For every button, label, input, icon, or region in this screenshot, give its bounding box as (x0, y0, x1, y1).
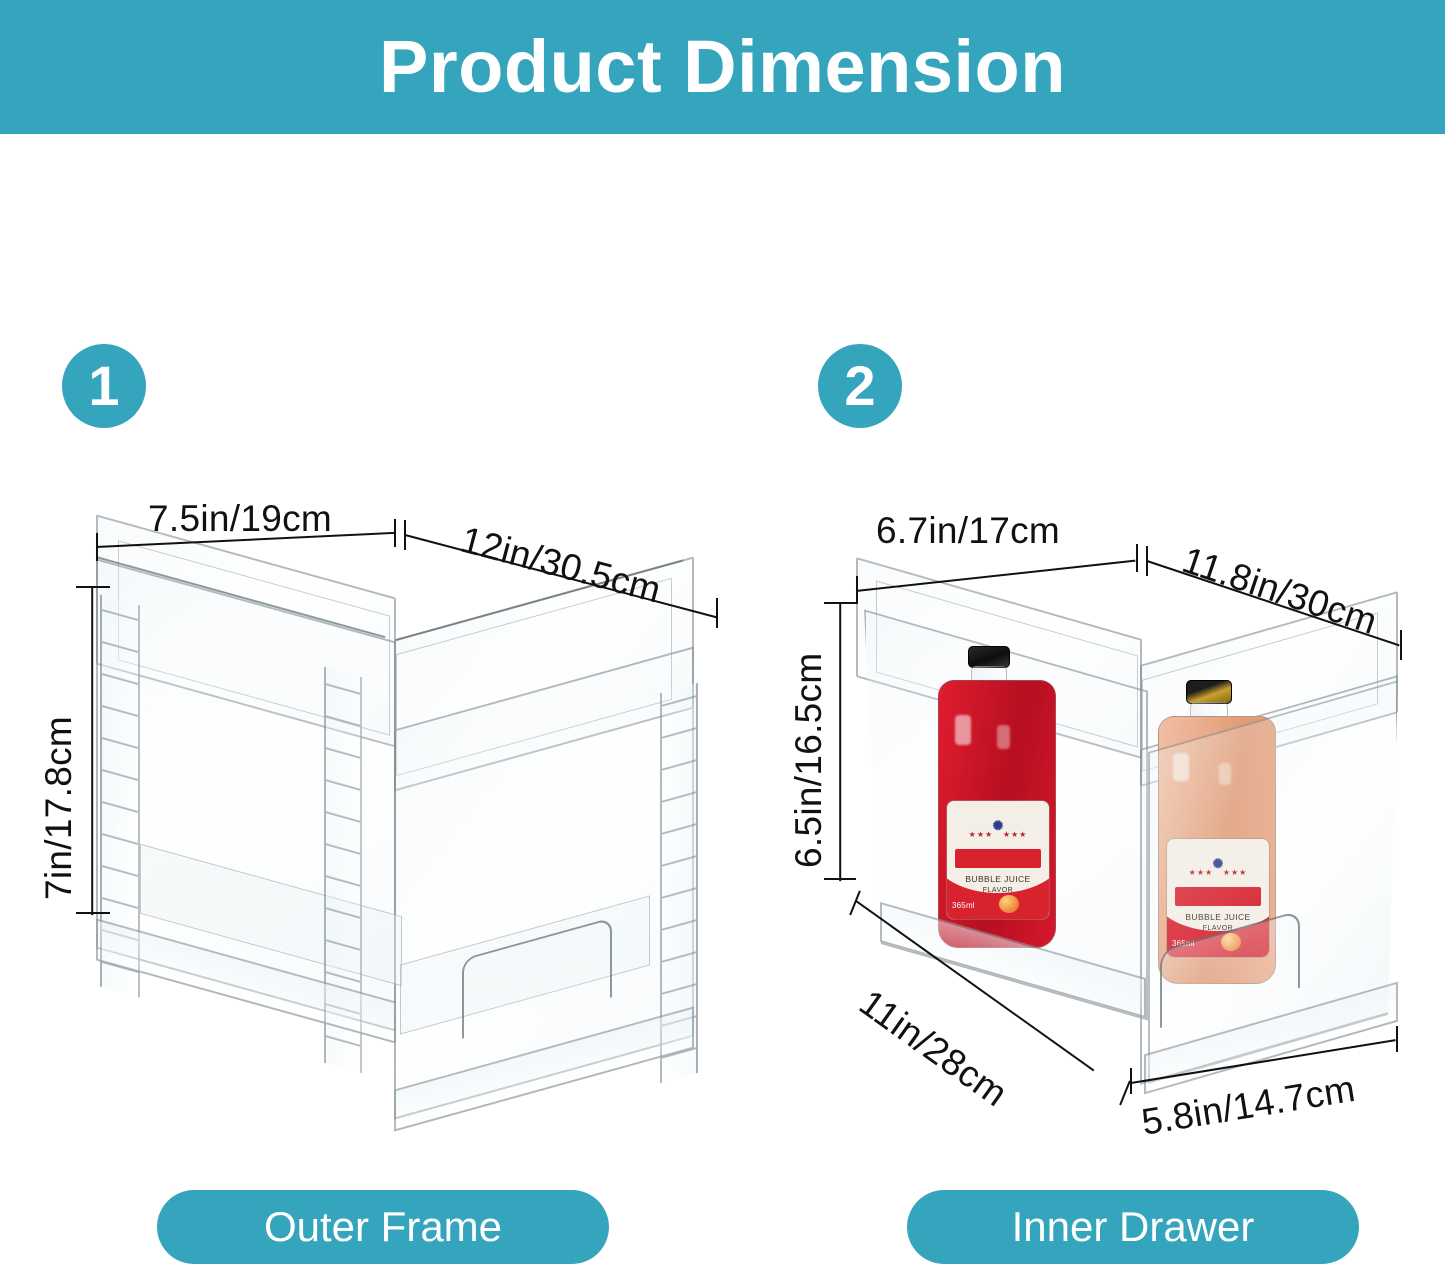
label-ribbon (955, 849, 1041, 868)
caption-outer-frame: Outer Frame (157, 1190, 609, 1264)
bottle-cap-black (968, 646, 1010, 668)
dim-label-width-top-2: 6.7in/17cm (876, 512, 1060, 549)
bottle-highlight (955, 715, 971, 745)
label-product-name: BUBBLE JUICE (947, 875, 1049, 884)
header-banner: Product Dimension (0, 0, 1445, 134)
dim-tick-w2-right (1136, 544, 1138, 572)
dim-label-height-2: 6.5in/16.5cm (790, 653, 827, 868)
dim-line-height-2 (839, 603, 841, 881)
dim-tick-d2-right (1400, 630, 1402, 660)
label-stars: ★★★ ★★★ (947, 831, 1049, 839)
label-product-subtitle: FLAVOR (947, 887, 1049, 894)
label-volume: 365ml (952, 902, 975, 910)
bottle-red: ✺ ★★★ ★★★ BUBBLE JUICE FLAVOR 365ml (938, 680, 1056, 948)
step-badge-2: 2 (818, 344, 902, 428)
dim-label-width-1: 7.5in/19cm (148, 500, 332, 537)
dim-tick-wb2-right (1396, 1026, 1398, 1052)
step-badge-1: 1 (62, 344, 146, 428)
bottle-highlight-2 (997, 725, 1010, 749)
dim-tick-d1-right (716, 598, 718, 628)
dim-label-depth-bottom-2: 11in/28cm (853, 983, 1013, 1112)
caption-inner-drawer: Inner Drawer (907, 1190, 1359, 1264)
dim-line-height-1 (91, 587, 93, 915)
page-title: Product Dimension (379, 30, 1066, 104)
bottle-body: ✺ ★★★ ★★★ BUBBLE JUICE FLAVOR 365ml (938, 680, 1056, 948)
bottle-cap-gold (1186, 680, 1232, 704)
label-fruit-icon (999, 895, 1019, 913)
dim-label-height-1: 7in/17.8cm (40, 716, 77, 900)
bottle-label: ✺ ★★★ ★★★ BUBBLE JUICE FLAVOR 365ml (947, 801, 1049, 919)
